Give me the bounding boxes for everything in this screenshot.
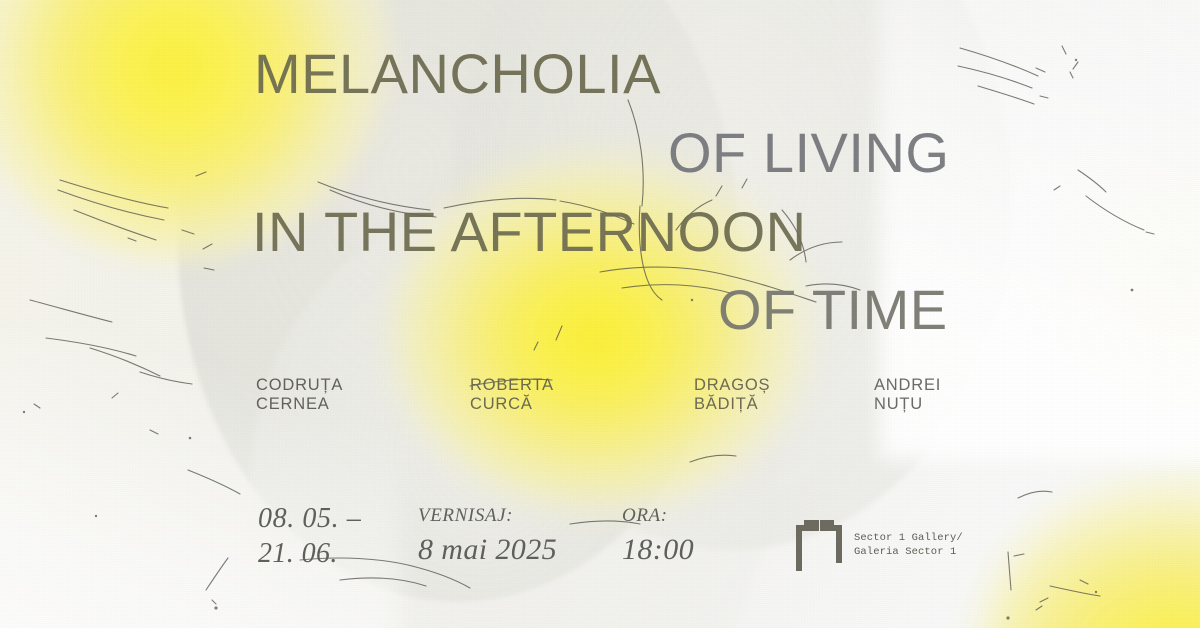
- exhibition-run-dates: 08. 05. – 21. 06.: [258, 502, 361, 572]
- gallery-name-en: Sector 1 Gallery/: [854, 531, 963, 545]
- poster-footer: 08. 05. – 21. 06. VERNISAJ: 8 mai 2025 O…: [0, 498, 1200, 594]
- gallery-logo[interactable]: Sector 1 Gallery/ Galeria Sector 1: [796, 519, 963, 571]
- artist-name: CODRUȚA CERNEA: [256, 376, 343, 414]
- artist-last-name: CURCĂ: [470, 395, 554, 414]
- gallery-name: Sector 1 Gallery/ Galeria Sector 1: [854, 531, 963, 559]
- run-dates-line-1: 08. 05. –: [258, 502, 361, 536]
- artist-last-name: CERNEA: [256, 395, 343, 414]
- hour-label: ORA:: [622, 504, 694, 528]
- gallery-name-ro: Galeria Sector 1: [854, 545, 963, 559]
- sector1-bracket-icon: [796, 519, 842, 571]
- opening-hour: ORA: 18:00: [622, 504, 694, 572]
- opening-label: VERNISAJ:: [418, 504, 557, 528]
- opening-date: VERNISAJ: 8 mai 2025: [418, 504, 557, 572]
- artist-first-name: CODRUȚA: [256, 376, 343, 395]
- run-dates-line-2: 21. 06.: [258, 536, 361, 572]
- artist-last-name: BĂDIȚĂ: [694, 395, 770, 414]
- hour-value: 18:00: [622, 528, 694, 572]
- opening-value: 8 mai 2025: [418, 528, 557, 572]
- artist-name: ANDREI NUȚU: [874, 376, 941, 414]
- artist-last-name: NUȚU: [874, 395, 941, 414]
- artist-first-name: DRAGOȘ: [694, 376, 770, 395]
- artist-first-name: ANDREI: [874, 376, 941, 395]
- exhibition-poster: MELANCHOLIA OF LIVING IN THE AFTERNOON O…: [0, 0, 1200, 628]
- artist-name: DRAGOȘ BĂDIȚĂ: [694, 376, 770, 414]
- artist-list: CODRUȚA CERNEA ROBERTA CURCĂ DRAGOȘ BĂDI…: [0, 376, 1200, 432]
- artist-name: ROBERTA CURCĂ: [470, 376, 554, 414]
- artist-first-name: ROBERTA: [470, 376, 554, 395]
